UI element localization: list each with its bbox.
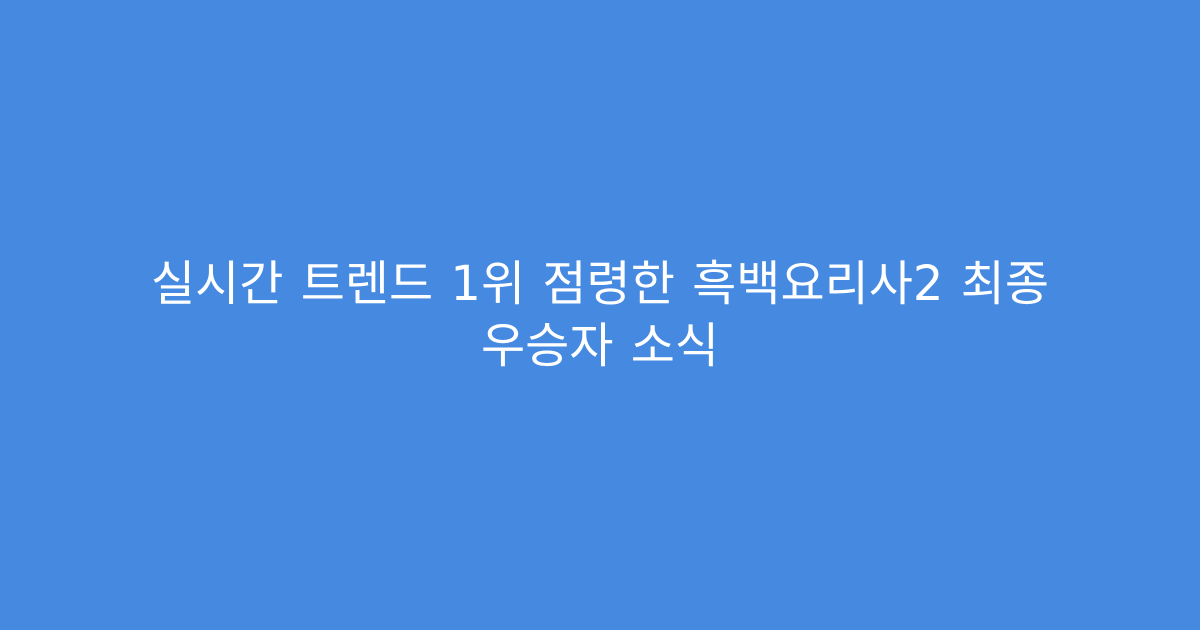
og-card: 실시간 트렌드 1위 점령한 흑백요리사2 최종 우승자 소식 — [0, 0, 1200, 630]
page-title: 실시간 트렌드 1위 점령한 흑백요리사2 최종 우승자 소식 — [140, 253, 1060, 377]
headline-block: 실시간 트렌드 1위 점령한 흑백요리사2 최종 우승자 소식 — [100, 253, 1100, 377]
